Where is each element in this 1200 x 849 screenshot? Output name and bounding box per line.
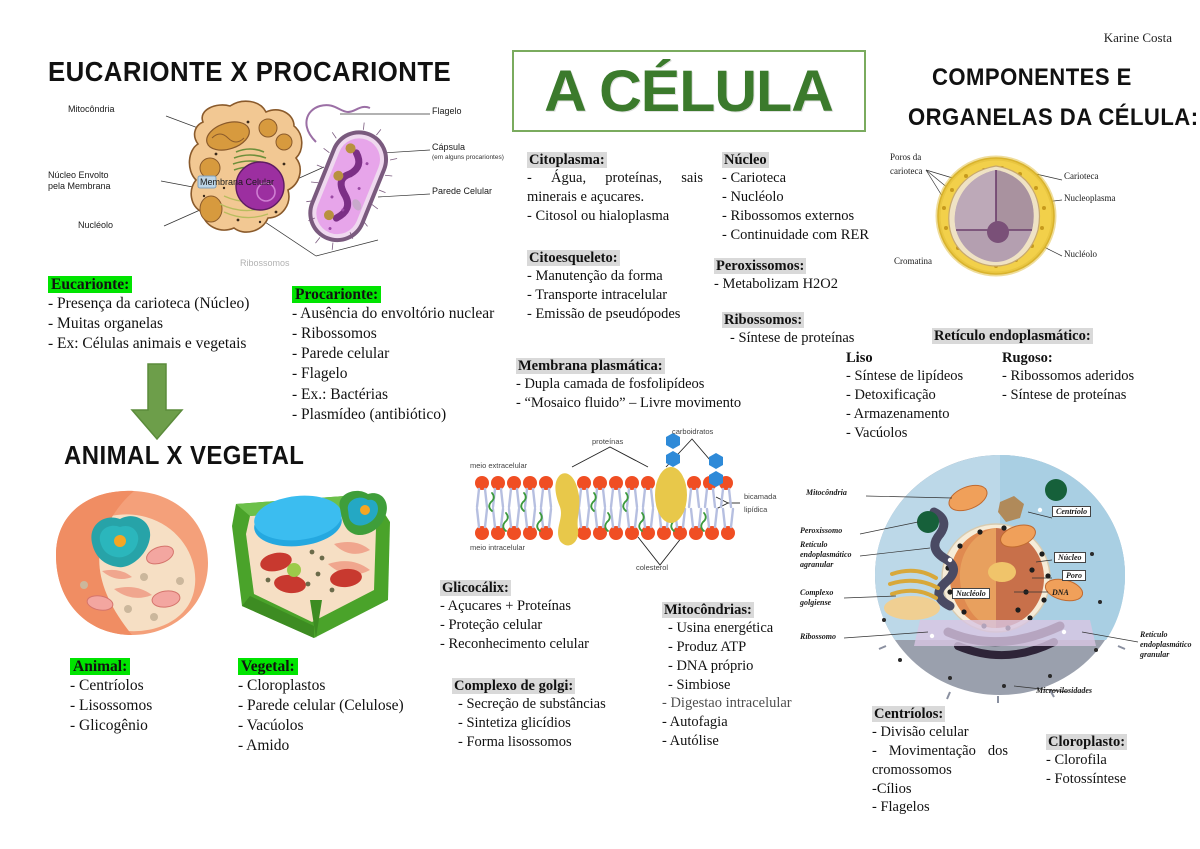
vesicle bbox=[276, 134, 292, 150]
page-title: A CÉLULA bbox=[545, 58, 834, 125]
animal-nucleolus bbox=[114, 535, 126, 547]
list-item: - Vacúolos bbox=[238, 716, 404, 736]
list-liso: - Síntese de lipídeos - Detoxificação - … bbox=[846, 367, 963, 442]
list-item: - DNA próprio bbox=[668, 657, 792, 676]
block-citoesqueleto: Citoesqueleto: - Manutenção da forma - T… bbox=[527, 250, 680, 324]
list-item: - Emissão de pseudópodes bbox=[527, 305, 680, 324]
heading-ribossomos: Ribossomos: bbox=[722, 312, 804, 328]
label-centriolo: Centríolo bbox=[1052, 506, 1091, 517]
list-item: - Ex: Células animais e vegetais bbox=[48, 334, 249, 354]
vesicle bbox=[200, 158, 220, 178]
list-citoplasma: - Citosol ou hialoplasma bbox=[527, 207, 703, 226]
list-item: - Ex.: Bactérias bbox=[292, 385, 494, 405]
block-ribossomos: Ribossomos: - Síntese de proteínas bbox=[722, 312, 854, 348]
label-nucleo-envolto-2: pela Membrana bbox=[48, 181, 111, 191]
block-centriolos: Centríolos: - Divisão celular - Moviment… bbox=[872, 706, 1008, 817]
list-item: - Amido bbox=[238, 736, 404, 756]
label-meio-intracelular: meio intracelular bbox=[470, 543, 525, 552]
label-reticulo-agranular-3: agranular bbox=[800, 560, 833, 569]
list-item: - Flagelos bbox=[872, 798, 1008, 817]
list-membrana-plasmatica: - Dupla camada de fosfolipídeos - “Mosai… bbox=[516, 375, 741, 413]
block-citoplasma: Citoplasma: - Água, proteínas, sais mine… bbox=[527, 152, 703, 226]
block-complexo-golgi: Complexo de golgi: - Secreção de substân… bbox=[452, 678, 606, 752]
block-nucleo: Núcleo - Carioteca - Nucléolo - Ribossom… bbox=[722, 152, 869, 244]
block-procarionte: Procarionte: - Ausência do envoltório nu… bbox=[292, 286, 494, 425]
section-title-componentes-line2: ORGANELAS DA CÉLULA: bbox=[908, 104, 1199, 132]
list-item: - Nucléolo bbox=[722, 188, 869, 207]
label-membrana-celular: Membrana Celular bbox=[200, 177, 274, 187]
label-microvilosidades: Microvilosidades bbox=[1036, 686, 1092, 695]
list-item: - Fotossíntese bbox=[1046, 770, 1127, 789]
list-item: - Dupla camada de fosfolipídeos bbox=[516, 375, 741, 394]
block-glicocalix: Glicocálix: - Açucares + Proteínas - Pro… bbox=[440, 580, 589, 654]
list-item: - Reconhecimento celular bbox=[440, 635, 589, 654]
heading-citoesqueleto: Citoesqueleto: bbox=[527, 250, 620, 266]
list-item: - Plasmídeo (antibiótico) bbox=[292, 405, 494, 425]
label-nucleolo: Nucléolo bbox=[952, 588, 990, 599]
heading-mitocondrias: Mitocôndrias: bbox=[662, 602, 754, 618]
heading-peroxissomos: Peroxissomos: bbox=[714, 258, 806, 274]
list-item: - Autofagia bbox=[662, 713, 792, 732]
heading-vegetal: Vegetal: bbox=[238, 658, 298, 675]
nucleus-diagram bbox=[880, 146, 1190, 296]
list-item: - Glicogênio bbox=[70, 716, 152, 736]
list-item: - Simbiose bbox=[668, 676, 792, 695]
integral-protein bbox=[555, 473, 579, 545]
heading-glicocalix: Glicocálix: bbox=[440, 580, 511, 596]
label-poros-2: carioteca bbox=[890, 166, 922, 176]
label-carboidratos: carboidratos bbox=[672, 427, 713, 436]
block-reticulo-rugoso: Rugoso: - Ribossomos aderidos - Síntese … bbox=[1002, 350, 1134, 405]
list-complexo-golgi: - Secreção de substâncias - Sintetiza gl… bbox=[452, 695, 606, 752]
figure-nucleo: Poros da carioteca Carioteca Nucleoplasm… bbox=[880, 146, 1190, 296]
plant-nucleolus bbox=[360, 505, 370, 515]
peroxisome bbox=[1045, 479, 1067, 501]
list-item: - Carioteca bbox=[722, 169, 869, 188]
figure-eucarionte-procarionte: Mitocôndria Núcleo Envolto pela Membrana… bbox=[48, 92, 498, 282]
membrane-diagram bbox=[460, 425, 790, 585]
label-capsula-note: (em alguns procariontes) bbox=[432, 154, 504, 161]
list-item: - Transporte intracelular bbox=[527, 286, 680, 305]
list-citoesqueleto: - Manutenção da forma - Transporte intra… bbox=[527, 267, 680, 324]
heading-nucleo: Núcleo bbox=[722, 152, 769, 168]
block-cloroplasto: Cloroplasto: - Clorofila - Fotossíntese bbox=[1046, 734, 1127, 789]
list-item: - Movimentação dos cromossomos bbox=[872, 742, 1008, 780]
list-item: - Presença da carioteca (Núcleo) bbox=[48, 294, 249, 314]
list-item: - Vacúolos bbox=[846, 424, 963, 443]
label-poros-1: Poros da bbox=[890, 152, 921, 162]
label-nucleoplasma: Nucleoplasma bbox=[1064, 193, 1115, 203]
list-item: - Ribossomos aderidos bbox=[1002, 367, 1134, 386]
list-animal: - Centríolos - Lisossomos - Glicogênio bbox=[70, 676, 152, 736]
list-item: - Cloroplastos bbox=[238, 676, 404, 696]
label-nucleo-envolto-1: Núcleo Envolto bbox=[48, 170, 109, 180]
list-item: - Secreção de substâncias bbox=[458, 695, 606, 714]
list-item: - Sintetiza glicídios bbox=[458, 714, 606, 733]
label-carioteca: Carioteca bbox=[1064, 171, 1098, 181]
golgi-vesicle bbox=[884, 596, 940, 620]
list-item: - Proteção celular bbox=[440, 616, 589, 635]
list-item: - Manutenção da forma bbox=[527, 267, 680, 286]
down-arrow bbox=[130, 364, 184, 440]
prokaryote-cell bbox=[290, 112, 407, 260]
block-eucarionte: Eucarionte: - Presença da carioteca (Núc… bbox=[48, 276, 249, 354]
block-animal: Animal: - Centríolos - Lisossomos - Glic… bbox=[70, 658, 152, 736]
label-mitocondria: Mitocôndria bbox=[68, 104, 115, 114]
citoplasma-paragraph: - Água, proteínas, sais minerais e açuca… bbox=[527, 169, 703, 207]
euk-prok-diagram bbox=[48, 92, 498, 282]
label-meio-extracelular: meio extracelular bbox=[470, 461, 527, 470]
heading-procarionte: Procarionte: bbox=[292, 286, 381, 303]
infographic-page: Karine Costa A CÉLULA EUCARIONTE X PROCA… bbox=[0, 0, 1200, 849]
label-bicamada: bicamada bbox=[744, 492, 777, 501]
list-item: - Síntese de lipídeos bbox=[846, 367, 963, 386]
label-cromatina: Cromatina bbox=[894, 256, 932, 266]
heading-eucarionte: Eucarionte: bbox=[48, 276, 132, 293]
vesicle bbox=[259, 119, 277, 137]
animal-cell-3d bbox=[48, 485, 218, 645]
list-procarionte: - Ausência do envoltório nuclear - Ribos… bbox=[292, 304, 494, 425]
peroxisome bbox=[917, 511, 939, 533]
arrow-down-icon bbox=[130, 364, 184, 440]
label-reticulo-granular-3: granular bbox=[1140, 650, 1169, 659]
list-item: - Forma lisossomos bbox=[458, 733, 606, 752]
list-item: - Açucares + Proteínas bbox=[440, 597, 589, 616]
list-glicocalix: - Açucares + Proteínas - Proteção celula… bbox=[440, 597, 589, 654]
label-capsula: Cápsula bbox=[432, 142, 465, 152]
list-item: - Continuidade com RER bbox=[722, 226, 869, 245]
label-reticulo-granular-2: endoplasmático bbox=[1140, 640, 1192, 649]
label-poro: Poro bbox=[1062, 570, 1086, 581]
integral-protein bbox=[655, 467, 687, 523]
lipid-heads-top bbox=[475, 476, 733, 490]
block-reticulo-heading: Retículo endoplasmático: bbox=[932, 328, 1093, 345]
label-reticulo-agranular-2: endoplasmático bbox=[800, 550, 852, 559]
label-proteinas: proteínas bbox=[592, 437, 623, 446]
lipid-tails bbox=[477, 489, 733, 527]
label-ribossomo: Ribossomo bbox=[800, 632, 836, 641]
block-vegetal: Vegetal: - Cloroplastos - Parede celular… bbox=[238, 658, 404, 757]
heading-complexo-golgi: Complexo de golgi: bbox=[452, 678, 575, 694]
list-item: - Ausência do envoltório nuclear bbox=[292, 304, 494, 324]
nucleolus bbox=[987, 221, 1009, 243]
heading-rugoso: Rugoso: bbox=[1002, 350, 1053, 366]
label-mitocondria: Mitocôndria bbox=[806, 488, 847, 497]
list-item: - Parede celular (Celulose) bbox=[238, 696, 404, 716]
list-item: - Clorofila bbox=[1046, 751, 1127, 770]
list-item: - Síntese de proteínas bbox=[730, 329, 854, 348]
figure-celula-vegetal bbox=[222, 480, 402, 650]
list-item: - Metabolizam H2O2 bbox=[714, 275, 838, 294]
list-item: - Síntese de proteínas bbox=[1002, 386, 1134, 405]
list-item: - Lisossomos bbox=[70, 696, 152, 716]
list-item: - Centríolos bbox=[70, 676, 152, 696]
list-rugoso: - Ribossomos aderidos - Síntese de prote… bbox=[1002, 367, 1134, 405]
plant-granule bbox=[287, 563, 301, 577]
list-item: - Produz ATP bbox=[668, 638, 792, 657]
label-reticulo-granular-1: Retículo bbox=[1140, 630, 1168, 639]
label-colesterol: colesterol bbox=[636, 563, 668, 572]
section-title-animal-vegetal: ANIMAL X VEGETAL bbox=[64, 440, 304, 471]
label-flagelo: Flagelo bbox=[432, 106, 462, 116]
detailed-cell-diagram bbox=[800, 450, 1200, 700]
heading-membrana-plasmatica: Membrana plasmática: bbox=[516, 358, 665, 374]
plant-cell-3d bbox=[222, 480, 402, 650]
label-parede-celular: Parede Celular bbox=[432, 186, 492, 196]
list-item: - Divisão celular bbox=[872, 723, 1008, 742]
label-nucleolo: Nucléolo bbox=[78, 220, 113, 230]
label-nucleolo: Nucléolo bbox=[1064, 249, 1097, 259]
label-reticulo-agranular-1: Retículo bbox=[800, 540, 828, 549]
heading-citoplasma: Citoplasma: bbox=[527, 152, 607, 168]
list-item: - Muitas organelas bbox=[48, 314, 249, 334]
block-reticulo-liso: Liso - Síntese de lipídeos - Detoxificaç… bbox=[846, 350, 963, 442]
heading-reticulo: Retículo endoplasmático: bbox=[932, 328, 1093, 344]
list-item: - “Mosaico fluido” – Livre movimento bbox=[516, 394, 741, 413]
list-item: - Citosol ou hialoplasma bbox=[527, 207, 703, 226]
list-item: -Cílios bbox=[872, 780, 1008, 799]
list-eucarionte: - Presença da carioteca (Núcleo) - Muita… bbox=[48, 294, 249, 354]
label-complexo-golgiense-2: golgiense bbox=[800, 598, 831, 607]
figure-celula-animal bbox=[48, 485, 218, 645]
heading-animal: Animal: bbox=[70, 658, 130, 675]
main-title-box: A CÉLULA bbox=[512, 50, 866, 132]
block-mitocondrias: Mitocôndrias: - Usina energética - Produ… bbox=[662, 602, 792, 751]
list-item: - Ribossomos bbox=[292, 324, 494, 344]
block-peroxissomos: Peroxissomos: - Metabolizam H2O2 bbox=[714, 258, 838, 294]
list-ribossomos: - Síntese de proteínas bbox=[722, 329, 854, 348]
list-item: - Autólise bbox=[662, 732, 792, 751]
list-vegetal: - Cloroplastos - Parede celular (Celulos… bbox=[238, 676, 404, 757]
er-region bbox=[914, 620, 1096, 646]
figure-membrana-plasmatica: proteínas carboidratos meio extracelular… bbox=[460, 425, 790, 585]
list-mitocondrias: - Usina energética - Produz ATP - DNA pr… bbox=[662, 619, 792, 751]
list-nucleo: - Carioteca - Nucléolo - Ribossomos exte… bbox=[722, 169, 869, 244]
list-item: - Flagelo bbox=[292, 364, 494, 384]
list-cloroplasto: - Clorofila - Fotossíntese bbox=[1046, 751, 1127, 789]
list-item: - Armazenamento bbox=[846, 405, 963, 424]
list-peroxissomos: - Metabolizam H2O2 bbox=[714, 275, 838, 294]
list-item: - Detoxificação bbox=[846, 386, 963, 405]
label-nucleo: Núcleo bbox=[1054, 552, 1086, 563]
label-complexo-golgiense-1: Complexo bbox=[800, 588, 833, 597]
heading-cloroplasto: Cloroplasto: bbox=[1046, 734, 1127, 750]
list-item: - Ribossomos externos bbox=[722, 207, 869, 226]
list-item: - Digestao intracelular bbox=[662, 694, 792, 713]
block-membrana-plasmatica: Membrana plasmática: - Dupla camada de f… bbox=[516, 358, 741, 413]
nucleolus-shape bbox=[988, 562, 1016, 582]
heading-liso: Liso bbox=[846, 350, 873, 366]
list-item: - Usina energética bbox=[668, 619, 792, 638]
vesicle bbox=[200, 196, 222, 222]
list-centriolos: - Divisão celular - Movimentação dos cro… bbox=[872, 723, 1008, 817]
label-peroxissomo: Peroxissomo bbox=[800, 526, 842, 535]
section-title-eucarionte-procarionte: EUCARIONTE X PROCARIONTE bbox=[48, 56, 451, 88]
label-ribossomos: Ribossomos bbox=[240, 258, 290, 268]
list-item: - Parede celular bbox=[292, 344, 494, 364]
label-lipidica: lipídica bbox=[744, 505, 767, 514]
figure-celula-detalhada: Mitocôndria Peroxissomo Retículo endopla… bbox=[800, 450, 1200, 700]
section-title-componentes-line1: COMPONENTES E bbox=[932, 64, 1132, 92]
label-dna: DNA bbox=[1052, 588, 1069, 597]
author-credit: Karine Costa bbox=[1104, 30, 1172, 46]
heading-centriolos: Centríolos: bbox=[872, 706, 945, 722]
